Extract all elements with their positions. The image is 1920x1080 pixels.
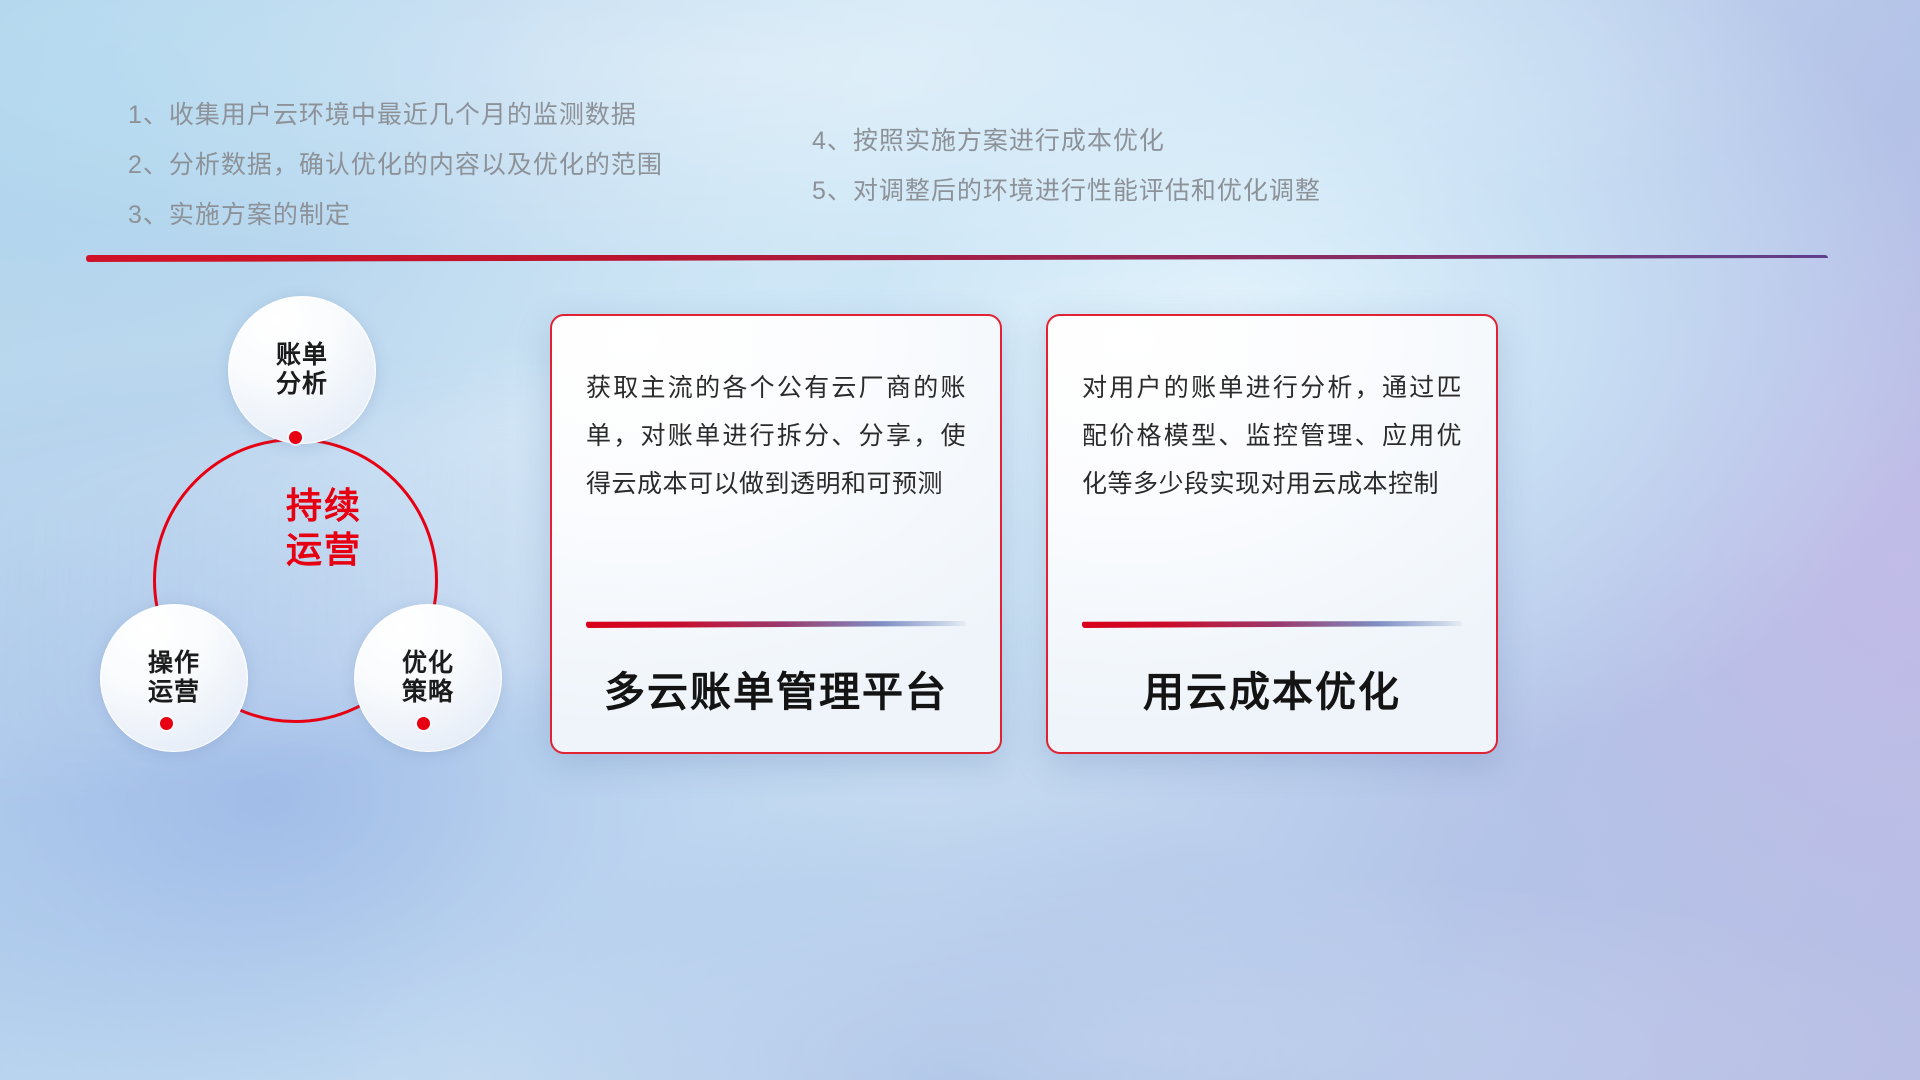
venn-bubble-left-label: 操作 运营 xyxy=(148,649,200,707)
venn-center-line-1: 持续 xyxy=(244,484,404,528)
feature-card-cost-optimization[interactable]: 对用户的账单进行分析，通过匹配价格模型、监控管理、应用优化等多少段实现对用云成本… xyxy=(1046,314,1498,754)
venn-node-dot-top xyxy=(289,431,302,444)
step-item-5: 5、对调整后的环境进行性能评估和优化调整 xyxy=(812,179,1321,204)
venn-bubble-right-line-2: 策略 xyxy=(402,678,454,707)
venn-bubble-top-line-2: 分析 xyxy=(276,370,328,399)
step-item-3: 3、实施方案的制定 xyxy=(128,203,663,228)
venn-bubble-right-line-1: 优化 xyxy=(402,649,454,678)
card-1-title: 多云账单管理平台 xyxy=(586,658,966,752)
venn-center-line-2: 运营 xyxy=(244,528,404,572)
venn-bubble-optimization-strategy[interactable]: 优化 策略 xyxy=(354,604,502,752)
venn-diagram: 持续 运营 账单 分析 操作 运营 优化 策略 xyxy=(78,288,558,778)
venn-bubble-operations[interactable]: 操作 运营 xyxy=(100,604,248,752)
slide-canvas: 1、收集用户云环境中最近几个月的监测数据 2、分析数据，确认优化的内容以及优化的… xyxy=(0,0,1920,1080)
card-2-body-text: 对用户的账单进行分析，通过匹配价格模型、监控管理、应用优化等多少段实现对用云成本… xyxy=(1082,364,1462,508)
card-1-divider-rule xyxy=(586,621,966,628)
card-2-divider-rule xyxy=(1082,621,1462,628)
venn-bubble-billing-analysis[interactable]: 账单 分析 xyxy=(228,296,376,444)
steps-left-column: 1、收集用户云环境中最近几个月的监测数据 2、分析数据，确认优化的内容以及优化的… xyxy=(128,103,663,253)
venn-center-label: 持续 运营 xyxy=(244,484,404,572)
steps-right-column: 4、按照实施方案进行成本优化 5、对调整后的环境进行性能评估和优化调整 xyxy=(812,129,1321,229)
venn-bubble-top-line-1: 账单 xyxy=(276,341,328,370)
venn-bubble-left-line-2: 运营 xyxy=(148,678,200,707)
feature-card-multicloud-billing[interactable]: 获取主流的各个公有云厂商的账单，对账单进行拆分、分享，使得云成本可以做到透明和可… xyxy=(550,314,1002,754)
venn-node-dot-right xyxy=(417,717,430,730)
card-2-title: 用云成本优化 xyxy=(1082,658,1462,752)
venn-bubble-left-line-1: 操作 xyxy=(148,649,200,678)
venn-bubble-right-label: 优化 策略 xyxy=(402,649,454,707)
step-item-2: 2、分析数据，确认优化的内容以及优化的范围 xyxy=(128,153,663,178)
step-item-1: 1、收集用户云环境中最近几个月的监测数据 xyxy=(128,103,663,128)
card-1-body-text: 获取主流的各个公有云厂商的账单，对账单进行拆分、分享，使得云成本可以做到透明和可… xyxy=(586,364,966,508)
step-item-4: 4、按照实施方案进行成本优化 xyxy=(812,129,1321,154)
venn-node-dot-left xyxy=(160,717,173,730)
venn-bubble-top-label: 账单 分析 xyxy=(276,341,328,399)
